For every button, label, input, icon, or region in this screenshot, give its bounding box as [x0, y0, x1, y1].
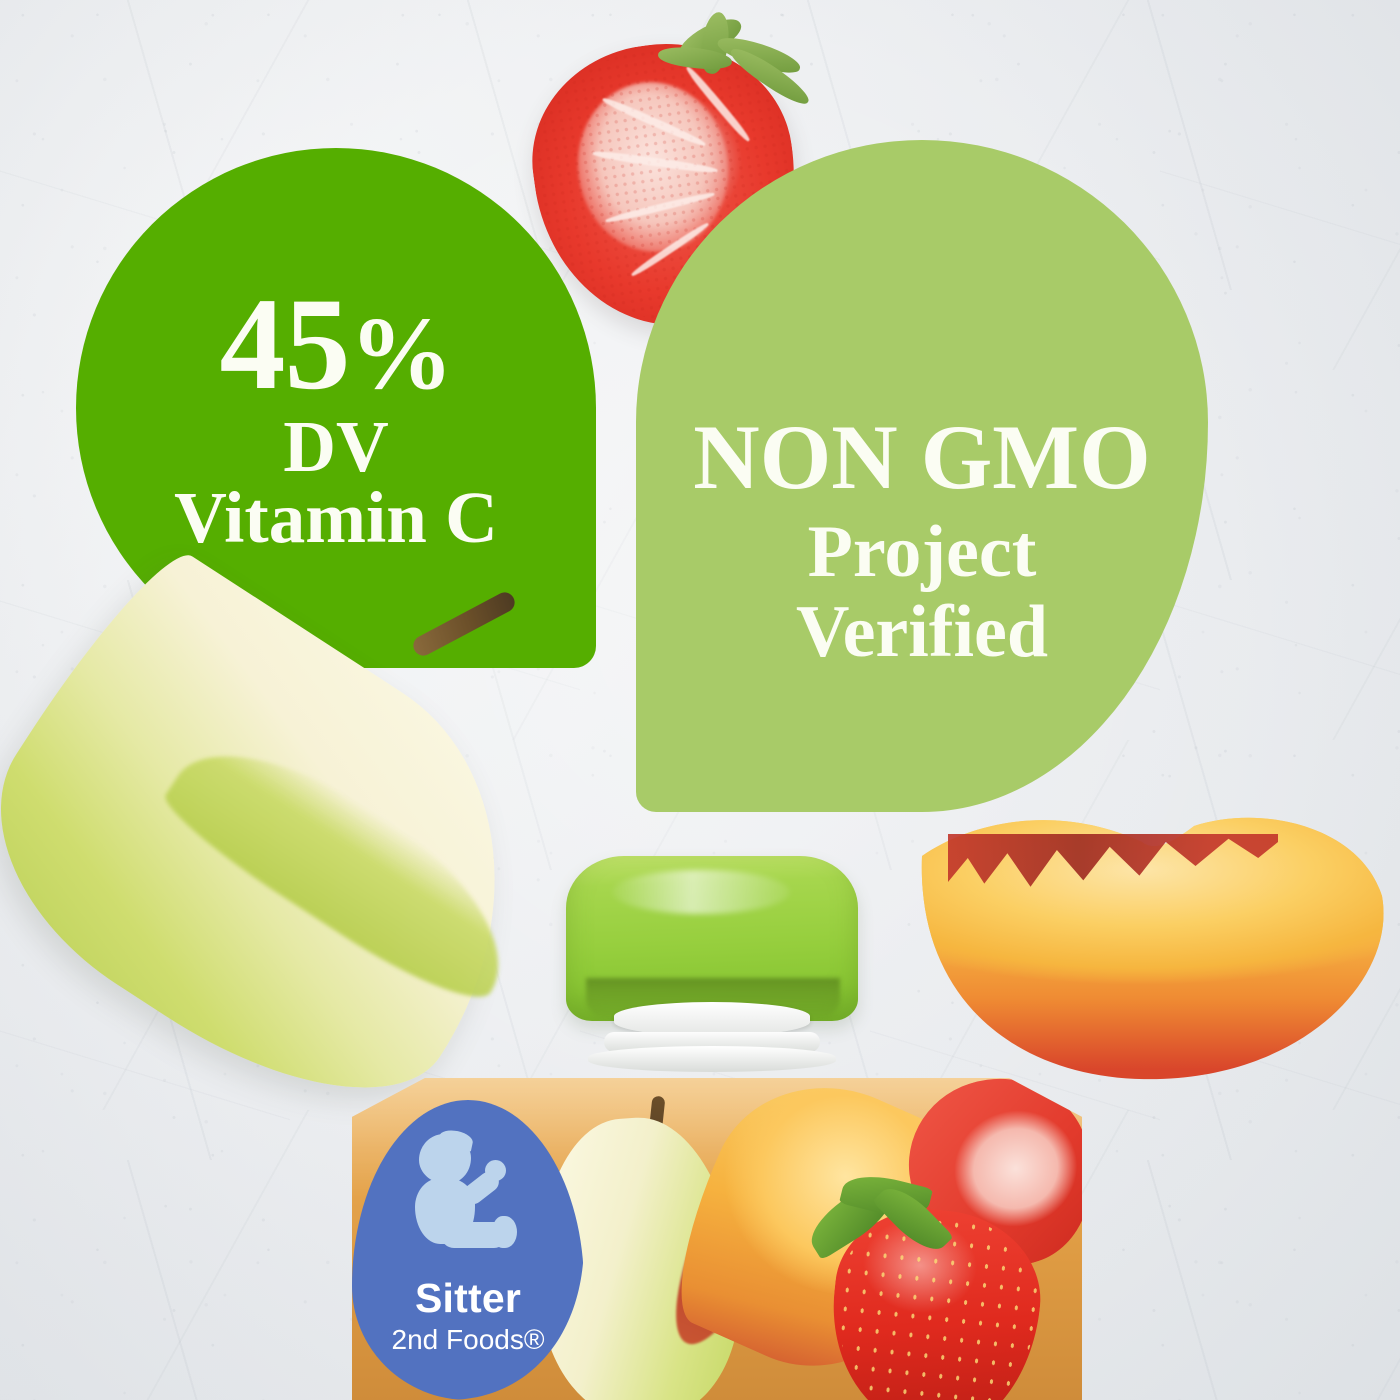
baby-hand-icon-part — [485, 1160, 506, 1181]
non-gmo-line-2: Project — [808, 513, 1037, 593]
baby-foot-icon-part — [493, 1216, 517, 1248]
non-gmo-line-1: NON GMO — [693, 411, 1150, 503]
non-gmo-line-3: Verified — [796, 593, 1048, 673]
vitamin-c-percent: 45% — [220, 283, 453, 404]
pear-stem — [410, 589, 518, 659]
sitter-title: Sitter — [415, 1278, 521, 1319]
vitamin-c-dv-label: DV — [283, 410, 388, 484]
product-promo-image: 45% DV Vitamin C NON GMO Project Verifie… — [0, 0, 1400, 1400]
baby-head-icon-part — [419, 1134, 471, 1184]
pouch-spout-top — [614, 1002, 810, 1036]
sitting-baby-icon — [409, 1134, 527, 1264]
sitter-subtitle: 2nd Foods® — [392, 1325, 545, 1356]
pouch-spout-base — [588, 1046, 836, 1072]
vitamin-c-nutrient-label: Vitamin C — [174, 481, 498, 555]
vitamin-c-percent-value: 45 — [220, 270, 350, 417]
percent-symbol: % — [350, 296, 453, 411]
pouch-cap-highlight — [612, 870, 790, 914]
